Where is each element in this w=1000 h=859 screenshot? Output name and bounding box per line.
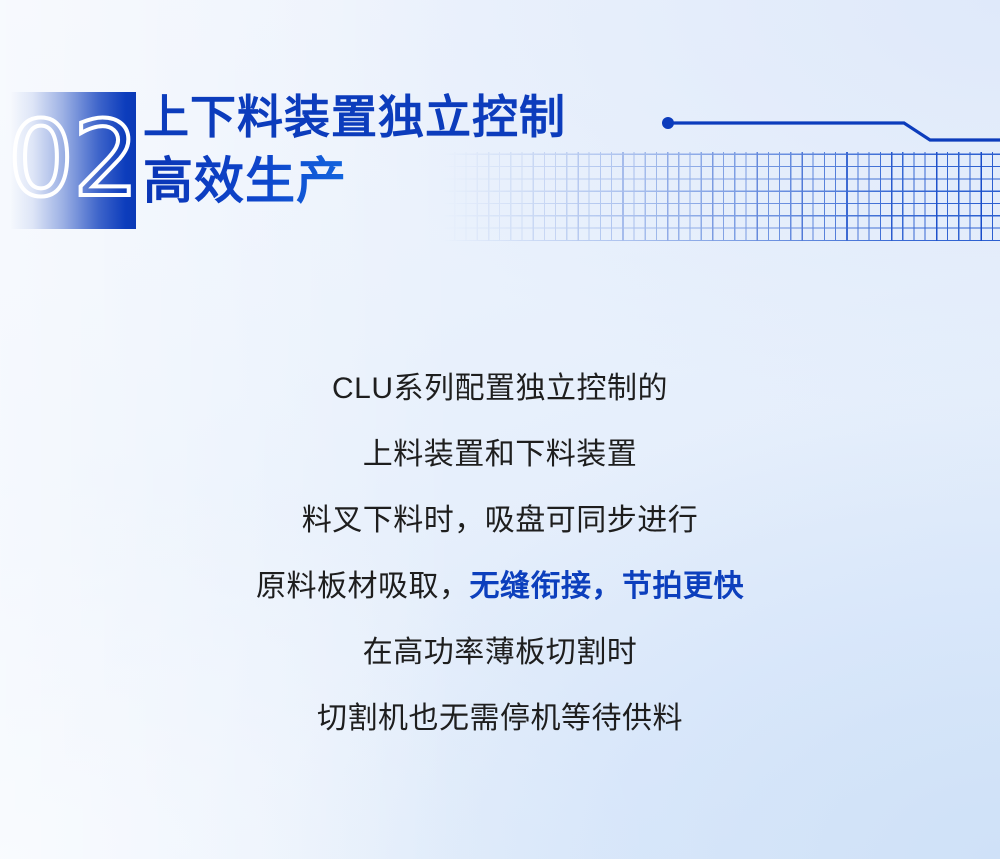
body-line: 上料装置和下料装置	[0, 422, 1000, 488]
heading-secondary: 高效生产	[143, 150, 566, 212]
body-line-text: 在高功率薄板切割时	[363, 636, 638, 669]
body-line: CLU系列配置独立控制的	[0, 356, 1000, 422]
body-line-text: 切割机也无需停机等待供料	[317, 702, 683, 735]
body-line: 在高功率薄板切割时	[0, 620, 1000, 686]
body-line-text: 上料装置和下料装置	[363, 438, 638, 471]
body-line-text: 料叉下料时，吸盘可同步进行	[302, 504, 699, 537]
heading-block: 上下料装置独立控制 高效生产	[143, 88, 566, 212]
heading-connector-line	[655, 100, 1000, 160]
body-line: 切割机也无需停机等待供料	[0, 686, 1000, 752]
body-copy: CLU系列配置独立控制的 上料装置和下料装置 料叉下料时，吸盘可同步进行 原料板…	[0, 356, 1000, 752]
body-line-text: 原料板材吸取，	[256, 570, 470, 603]
section-number-badge: 02	[10, 92, 136, 229]
body-line-text: CLU系列配置独立控制的	[332, 372, 668, 405]
heading-primary: 上下料装置独立控制	[143, 88, 566, 146]
body-line-with-highlight: 原料板材吸取，无缝衔接，节拍更快	[0, 554, 1000, 620]
body-line: 料叉下料时，吸盘可同步进行	[0, 488, 1000, 554]
section-number-text: 02	[8, 107, 138, 211]
connector-path	[668, 123, 1000, 140]
body-line-highlight: 无缝衔接，节拍更快	[470, 570, 745, 603]
